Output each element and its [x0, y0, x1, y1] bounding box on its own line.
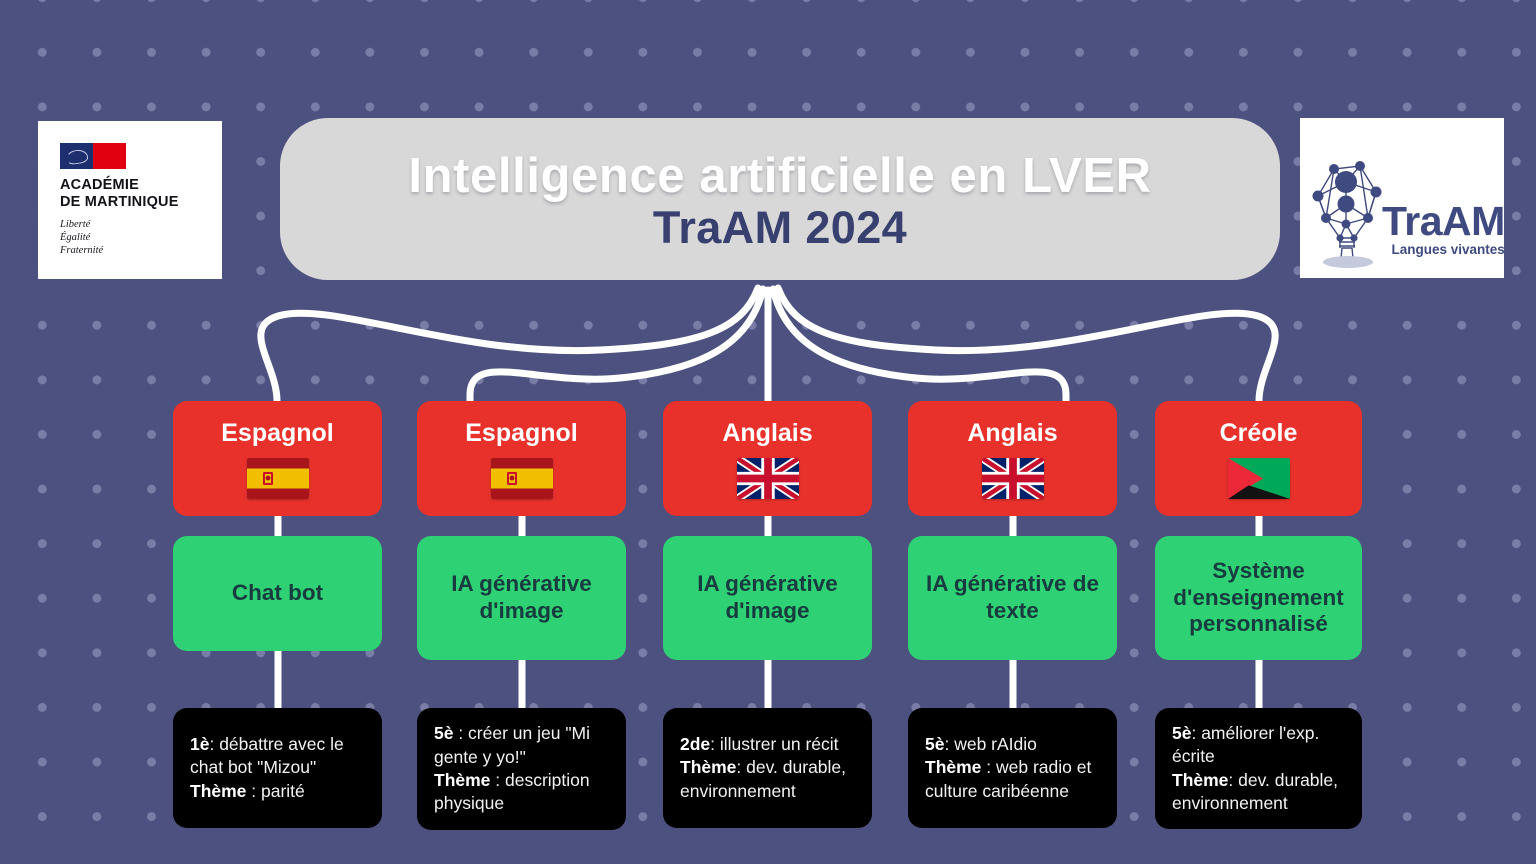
detail-level-text: : améliorer l'exp. écrite — [1172, 723, 1319, 766]
language-label: Anglais — [722, 420, 812, 448]
detail-card[interactable]: 5è: web rAIdioThème : web radio et cultu… — [908, 708, 1117, 828]
detail-text: 5è: web rAIdioThème : web radio et cultu… — [925, 733, 1103, 803]
connector-stub — [1009, 656, 1016, 712]
detail-theme-label: Thème — [190, 781, 246, 801]
detail-text: 5è: améliorer l'exp. écriteThème: dev. d… — [1172, 722, 1348, 815]
technology-label: IA générative de texte — [917, 571, 1108, 624]
martinique-flag-icon — [1228, 458, 1290, 499]
connector-stub — [764, 656, 771, 712]
connector-stub — [1255, 656, 1262, 712]
page-subtitle: TraAM 2024 — [653, 204, 907, 252]
french-flag-icon — [60, 143, 126, 169]
detail-card[interactable]: 5è: améliorer l'exp. écriteThème: dev. d… — [1155, 708, 1362, 829]
language-label: Anglais — [967, 420, 1057, 448]
technology-card[interactable]: IA générative de texte — [908, 536, 1117, 660]
detail-level-label: 5è — [434, 723, 453, 743]
detail-level-text: : débattre avec le chat bot "Mizou" — [190, 734, 344, 777]
detail-theme-label: Thème — [434, 770, 490, 790]
connector-stub — [274, 647, 281, 712]
academie-line-1: ACADÉMIE — [60, 177, 216, 194]
detail-text: 1è: débattre avec le chat bot "Mizou"Thè… — [190, 733, 368, 803]
detail-level-label: 1è — [190, 734, 209, 754]
uk-flag-icon — [737, 458, 799, 499]
detail-card[interactable]: 1è: débattre avec le chat bot "Mizou"Thè… — [173, 708, 382, 828]
motto-egalite: Égalité — [60, 231, 216, 244]
language-label: Espagnol — [221, 420, 334, 448]
technology-card[interactable]: Chat bot — [173, 536, 382, 651]
traam-logo: TraAM Langues vivantes — [1300, 118, 1504, 278]
connector-stub — [518, 656, 525, 712]
detail-card[interactable]: 2de: illustrer un récitThème: dev. durab… — [663, 708, 872, 828]
detail-theme-label: Thème — [925, 757, 981, 777]
technology-label: Système d'enseignement personnalisé — [1164, 558, 1353, 638]
detail-card[interactable]: 5è : créer un jeu "Mi gente y yo!"Thème … — [417, 708, 626, 830]
technology-card[interactable]: Système d'enseignement personnalisé — [1155, 536, 1362, 660]
network-lightbulb-icon — [1308, 152, 1386, 272]
traam-wordmark: TraAM — [1382, 201, 1505, 242]
motto-fraternite: Fraternité — [60, 244, 216, 257]
language-card[interactable]: Créole — [1155, 401, 1362, 516]
language-card[interactable]: Anglais — [663, 401, 872, 516]
technology-label: IA générative d'image — [426, 571, 617, 624]
technology-label: Chat bot — [232, 580, 323, 607]
detail-text: 2de: illustrer un récitThème: dev. durab… — [680, 733, 858, 803]
technology-card[interactable]: IA générative d'image — [663, 536, 872, 660]
page-title: Intelligence artificielle en LVER — [408, 151, 1151, 202]
detail-level-label: 5è — [1172, 723, 1191, 743]
technology-label: IA générative d'image — [672, 571, 863, 624]
detail-theme-label: Thème — [1172, 770, 1228, 790]
detail-text: 5è : créer un jeu "Mi gente y yo!"Thème … — [434, 722, 612, 815]
detail-level-text: : web rAIdio — [944, 734, 1036, 754]
traam-subtitle: Langues vivantes — [1382, 243, 1505, 257]
language-card[interactable]: Anglais — [908, 401, 1117, 516]
detail-theme-label: Thème — [680, 757, 736, 777]
detail-theme-text: : parité — [246, 781, 304, 801]
language-label: Espagnol — [465, 420, 578, 448]
uk-flag-icon — [982, 458, 1044, 499]
language-card[interactable]: Espagnol — [173, 401, 382, 516]
language-card[interactable]: Espagnol — [417, 401, 626, 516]
technology-card[interactable]: IA générative d'image — [417, 536, 626, 660]
language-label: Créole — [1220, 420, 1298, 448]
academie-de-martinique-logo: ACADÉMIE DE MARTINIQUE Liberté Égalité F… — [38, 121, 222, 279]
page-title-bubble: Intelligence artificielle en LVER TraAM … — [280, 118, 1280, 280]
detail-level-label: 2de — [680, 734, 710, 754]
detail-level-text: : créer un jeu "Mi gente y yo!" — [434, 723, 590, 766]
detail-level-label: 5è — [925, 734, 944, 754]
detail-level-text: : illustrer un récit — [710, 734, 838, 754]
academie-line-2: DE MARTINIQUE — [60, 194, 216, 211]
spain-flag-icon — [247, 458, 309, 499]
motto-liberte: Liberté — [60, 218, 216, 231]
spain-flag-icon — [491, 458, 553, 499]
